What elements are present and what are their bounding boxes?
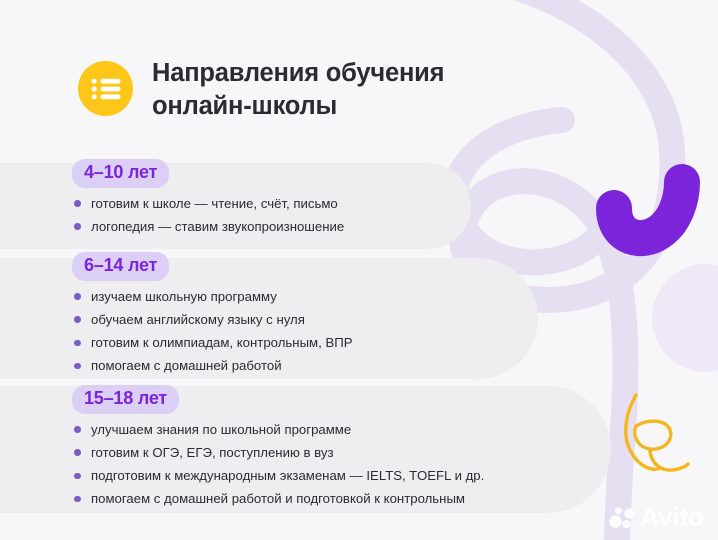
page-title-line-1: Направления обучения [152,57,444,90]
bullet-dot-icon [74,426,81,433]
list-item-label: готовим к школе — чтение, счёт, письмо [91,196,338,211]
list-item-label: подготовим к международным экзаменам — I… [91,468,484,483]
age-group-1: 4–10 лет готовим к школе — чтение, счёт,… [72,159,344,233]
avito-watermark-text: Avito [640,504,704,531]
bullet-dot-icon [74,340,81,347]
bullet-dot-icon [74,363,81,370]
lavender-swirl-loop [455,120,618,262]
bullet-dot-icon [74,223,81,230]
bullet-dot-icon [74,293,81,300]
lavender-blob [652,264,718,372]
list-item-label: помогаем с домашней работой и подготовко… [91,491,465,506]
bullet-dot-icon [74,496,81,503]
list-item-label: обучаем английскому языку с нуля [91,312,305,327]
list-item-label: изучаем школьную программу [91,289,277,304]
bullet-dot-icon [74,473,81,480]
yellow-cursive-squiggle [626,395,688,470]
age-badge-2: 6–14 лет [72,252,169,281]
list-item-label: логопедия — ставим звукопроизношение [91,219,344,234]
list-item: готовим к школе — чтение, счёт, письмо [72,197,344,210]
page-title: Направления обучения онлайн-школы [152,57,444,122]
age-group-3-list: улучшаем знания по школьной программе го… [72,423,484,506]
list-item-label: готовим к олимпиадам, контрольным, ВПР [91,335,353,350]
bullet-dot-icon [74,316,81,323]
list-item: готовим к олимпиадам, контрольным, ВПР [72,336,353,349]
age-group-2-list: изучаем школьную программу обучаем англи… [72,290,353,373]
age-group-3: 15–18 лет улучшаем знания по школьной пр… [72,385,484,506]
list-item: подготовим к международным экзаменам — I… [72,469,484,482]
list-item: изучаем школьную программу [72,290,353,303]
avito-watermark: Avito [609,504,704,531]
poster-header: Направления обучения онлайн-школы [78,57,444,122]
list-item-label: помогаем с домашней работой [91,358,282,373]
age-badge-1: 4–10 лет [72,159,169,188]
list-item: улучшаем знания по школьной программе [72,423,484,436]
list-item: помогаем с домашней работой и подготовко… [72,492,484,505]
bullet-dot-icon [74,200,81,207]
list-item: обучаем английскому языку с нуля [72,313,353,326]
age-group-1-list: готовим к школе — чтение, счёт, письмо л… [72,197,344,233]
list-item: логопедия — ставим звукопроизношение [72,220,344,233]
purple-hook-shape [614,182,682,238]
age-badge-3: 15–18 лет [72,385,179,414]
list-item-label: улучшаем знания по школьной программе [91,422,351,437]
list-item: готовим к ОГЭ, ЕГЭ, поступлению в вуз [72,446,484,459]
poster-canvas: Направления обучения онлайн-школы 4–10 л… [0,0,718,540]
list-item-label: готовим к ОГЭ, ЕГЭ, поступлению в вуз [91,445,334,460]
page-title-line-2: онлайн-школы [152,90,444,123]
list-item: помогаем с домашней работой [72,359,353,372]
bullet-dot-icon [74,449,81,456]
bullet-list-icon [78,61,133,116]
avito-logo-icon [609,507,635,529]
age-group-2: 6–14 лет изучаем школьную программу обуч… [72,252,353,373]
